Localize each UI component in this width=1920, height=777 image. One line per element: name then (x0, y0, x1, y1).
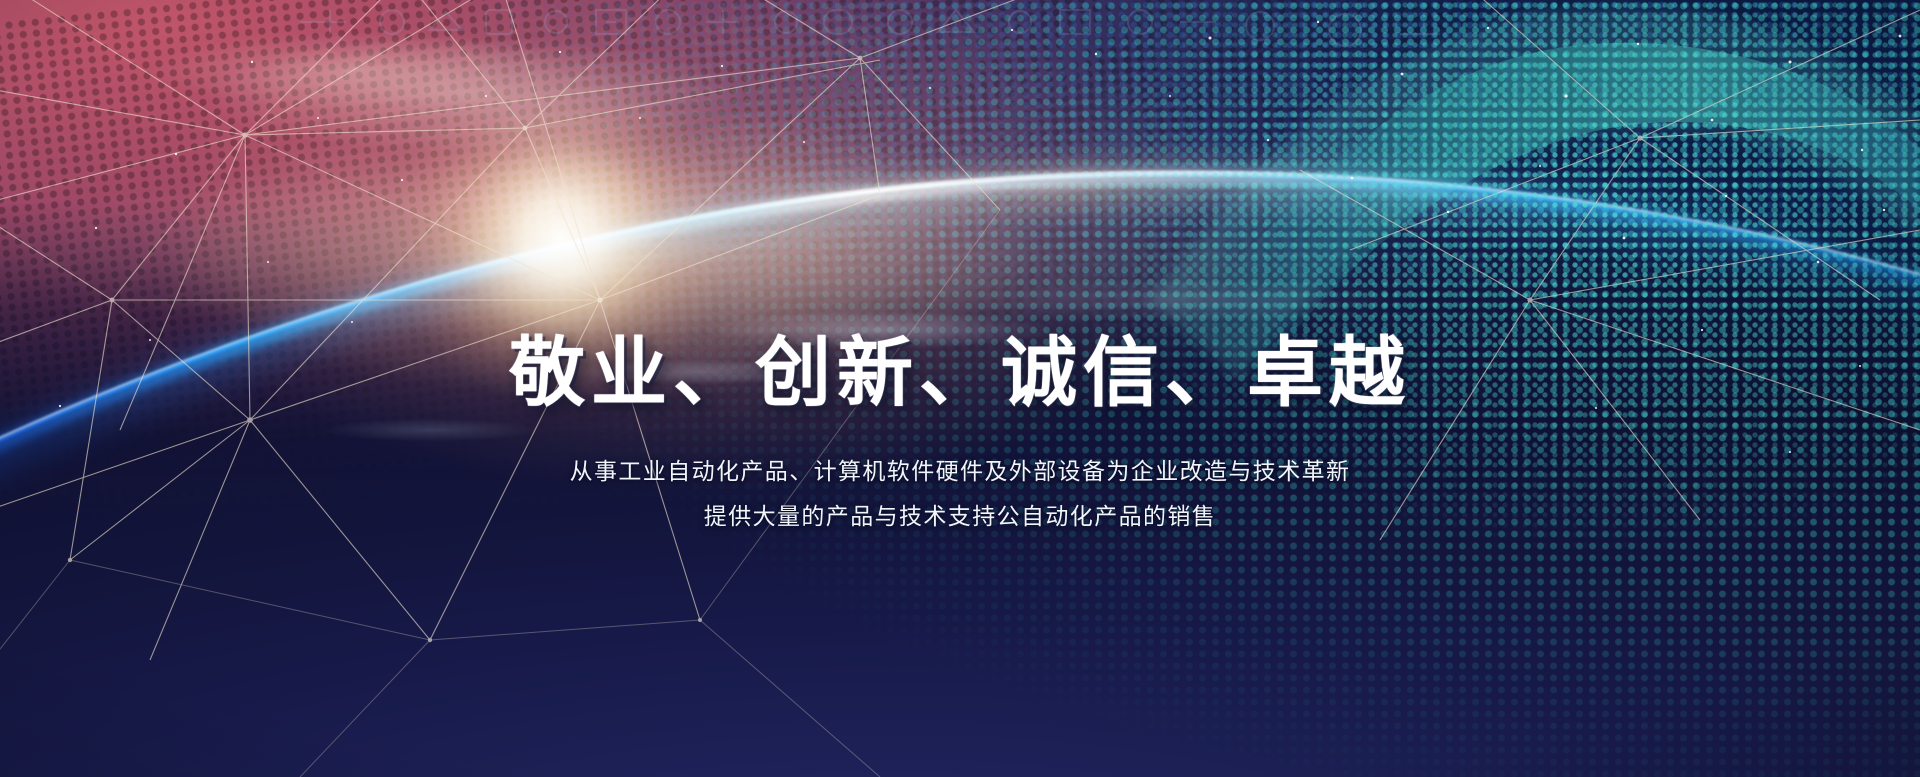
banner-content: 敬业、创新、诚信、卓越 从事工业自动化产品、计算机软件硬件及外部设备为企业改造与… (0, 0, 1920, 777)
banner-subtitle-line-1: 从事工业自动化产品、计算机软件硬件及外部设备为企业改造与技术革新 (570, 449, 1351, 494)
banner-subtitle-line-2: 提供大量的产品与技术支持公自动化产品的销售 (704, 494, 1216, 539)
hero-banner: 敬业、创新、诚信、卓越 从事工业自动化产品、计算机软件硬件及外部设备为企业改造与… (0, 0, 1920, 777)
banner-headline: 敬业、创新、诚信、卓越 (509, 336, 1411, 412)
